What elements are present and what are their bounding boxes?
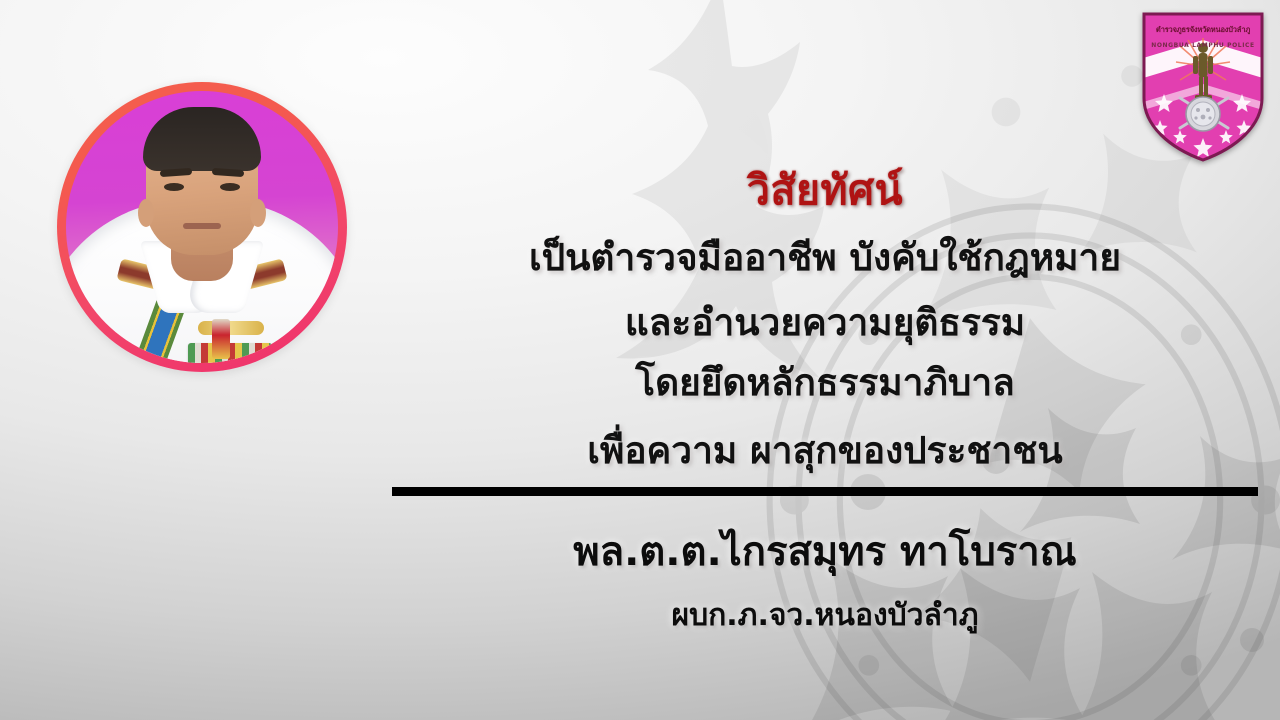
ear-left [138,199,154,227]
mouth [183,223,221,229]
portrait-photo [66,91,338,363]
uniform-wing-insignia [198,321,264,335]
neck-medal [212,319,230,359]
medal-ribbon-bar [188,343,272,363]
vision-line-1: เป็นตำรวจมืออาชีพ บังคับใช้กฎหมาย [390,228,1260,287]
officer-portrait [57,82,347,372]
officer-rank-title: ผบก.ภ.จว.หนองบัวลำภู [390,592,1260,639]
vision-line-3: โดยยึดหลักธรรมาภิบาล [390,353,1260,412]
eye-right [220,183,240,191]
police-badge-icon: ตำรวจภูธรจังหวัดหนองบัวลำภู NONGBUA LAMP… [1140,10,1266,162]
vision-heading: วิสัยทัศน์ [390,158,1260,223]
vision-slide: วิสัยทัศน์ เป็นตำรวจมืออาชีพ บังคับใช้กฎ… [0,0,1280,720]
badge-english-label: NONGBUA LAMPHU POLICE [1140,42,1266,49]
officer-hair [143,107,261,171]
badge-thai-label: ตำรวจภูธรจังหวัดหนองบัวลำภู [1140,24,1266,36]
ear-right [250,199,266,227]
vision-line-4: เพื่อความ ผาสุกของประชาชน [390,421,1260,480]
section-divider [392,487,1258,496]
eye-left [164,183,184,191]
vision-line-2: และอำนวยความยุติธรรม [390,293,1260,352]
officer-name: พล.ต.ต.ไกรสมุทร ทาโบราณ [390,519,1260,583]
